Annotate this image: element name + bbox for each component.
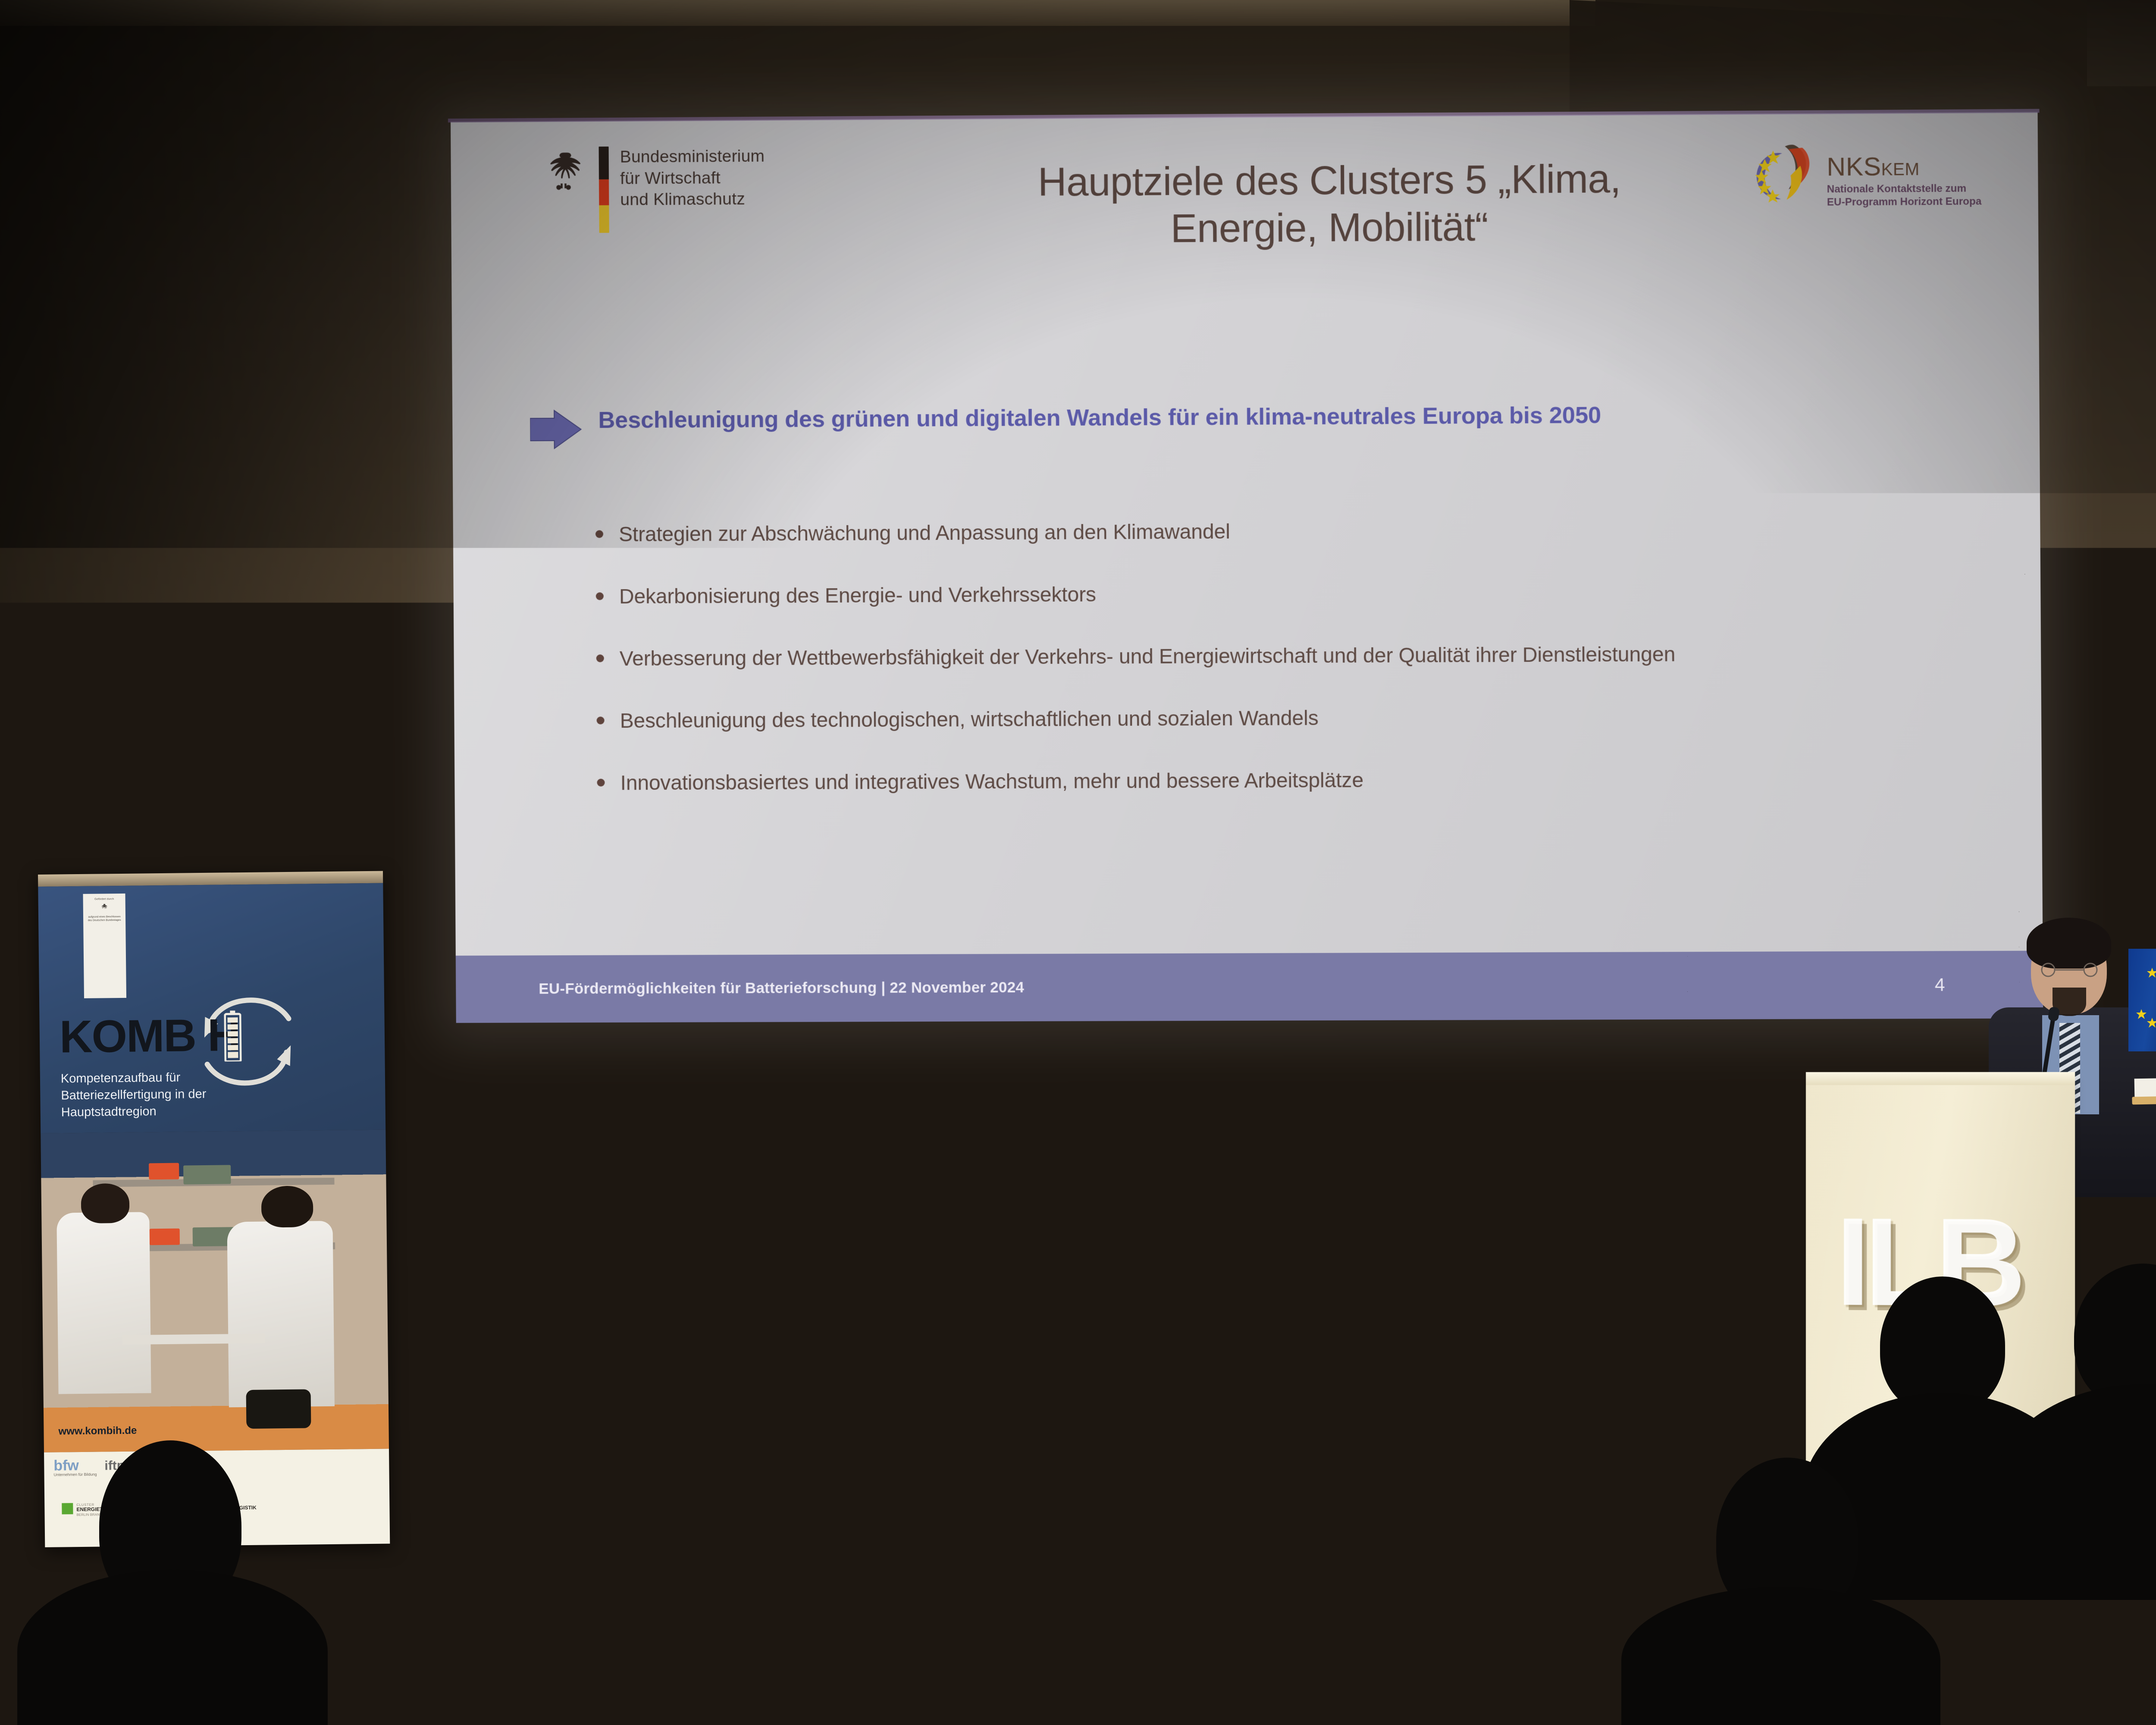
bmwk-line-3: und Klimaschutz: [620, 188, 765, 211]
nks-wordmark: NKSKEM: [1827, 153, 1981, 180]
kombih-tagline: Kompetenzaufbau für Batteriezellfertigun…: [61, 1069, 229, 1121]
slide-title: Hauptziele des Clusters 5 „Klima, Energi…: [961, 155, 1699, 254]
slide-callout-text: Beschleunigung des grünen und digitalen …: [598, 398, 1601, 437]
list-item: Verbesserung der Wettbewerbsfähigkeit de…: [596, 638, 1976, 674]
speaker-hair: [2027, 918, 2111, 969]
bmwk-line-1: Bundesministerium: [620, 146, 765, 168]
slide-footer-bar: EU-Fördermöglichkeiten für Batterieforsc…: [456, 951, 2043, 1023]
funding-note-bottom: aufgrund eines Beschlusses des Deutschen…: [83, 915, 125, 922]
glasses-icon: [2034, 963, 2105, 977]
ceiling-panel-right: [2087, 0, 2156, 86]
bullet-text: Verbesserung der Wettbewerbsfähigkeit de…: [620, 640, 1676, 674]
bullet-text: Innovationsbasiertes und integratives Wa…: [620, 765, 1363, 799]
bmwk-line-2: für Wirtschaft: [620, 167, 765, 189]
lectern-top: [1806, 1072, 2075, 1085]
lab-crate: [149, 1163, 179, 1180]
nks-subtitle-line-1: Nationale Kontaktstelle zum: [1827, 182, 1982, 196]
funding-note-top: Gefördert durch: [94, 898, 114, 900]
nks-subtitle-line-2: EU-Programm Horizont Europa: [1827, 195, 1982, 209]
bullet-dot-icon: [597, 779, 605, 787]
list-item: Innovationsbasiertes und integratives Wa…: [597, 763, 1976, 799]
list-item: Dekarbonisierung des Energie- und Verkeh…: [596, 576, 1975, 612]
eu-flag: [2128, 941, 2156, 1070]
speaker-nameplate: [2134, 1078, 2156, 1098]
bullet-dot-icon: [596, 593, 604, 600]
bullet-dot-icon: [595, 530, 603, 538]
foreground-shadow: [0, 1186, 2156, 1725]
federal-eagle-icon: [539, 147, 588, 195]
list-item: Beschleunigung des technologischen, wirt…: [596, 701, 1976, 737]
bullet-text: Beschleunigung des technologischen, wirt…: [620, 703, 1318, 737]
list-item: Strategien zur Abschwächung und Anpassun…: [595, 513, 1975, 550]
bmwk-logo-text: Bundesministerium für Wirtschaft und Kli…: [620, 146, 765, 211]
projection-screen: Bundesministerium für Wirtschaft und Kli…: [451, 112, 2043, 1023]
nameplate-stand: [2132, 1095, 2156, 1104]
nks-kem-logo: NKSKEM Nationale Kontaktstelle zum EU-Pr…: [1751, 138, 1981, 209]
nks-subtitle: Nationale Kontaktstelle zum EU-Programm …: [1827, 182, 1982, 209]
banner-funding-box: Gefördert durch aufgrund eines Beschluss…: [83, 894, 126, 998]
slide-callout: Beschleunigung des grünen und digitalen …: [530, 396, 1952, 449]
slide-footer-text: EU-Fördermöglichkeiten für Batterieforsc…: [539, 979, 1024, 997]
bullet-text: Dekarbonisierung des Energie- und Verkeh…: [619, 580, 1096, 612]
lab-crate: [183, 1165, 231, 1184]
eu-flag-cloth: [2128, 949, 2156, 1051]
right-arrow-icon: [530, 409, 582, 449]
federal-eagle-icon: [99, 902, 110, 913]
bullet-text: Strategien zur Abschwächung und Anpassun…: [619, 517, 1230, 550]
german-flag-bar: [599, 147, 609, 233]
slide-bullet-list: Strategien zur Abschwächung und Anpassun…: [595, 513, 1977, 831]
bullet-dot-icon: [597, 717, 605, 724]
bullet-dot-icon: [596, 655, 604, 662]
conference-hall-photo: Bundesministerium für Wirtschaft und Kli…: [0, 0, 2156, 1725]
nks-swoosh-icon: [1751, 139, 1821, 209]
eu-stars-icon: [2128, 949, 2156, 1051]
slide-page-number: 4: [1935, 975, 1945, 995]
nks-name: NKS: [1827, 152, 1881, 181]
wall-shadow-left: [0, 0, 388, 906]
battery-icon: [224, 1010, 241, 1061]
nks-suffix: KEM: [1881, 160, 1919, 179]
presentation-slide: Bundesministerium für Wirtschaft und Kli…: [451, 112, 2043, 1023]
bmwk-logo: Bundesministerium für Wirtschaft und Kli…: [539, 146, 765, 233]
